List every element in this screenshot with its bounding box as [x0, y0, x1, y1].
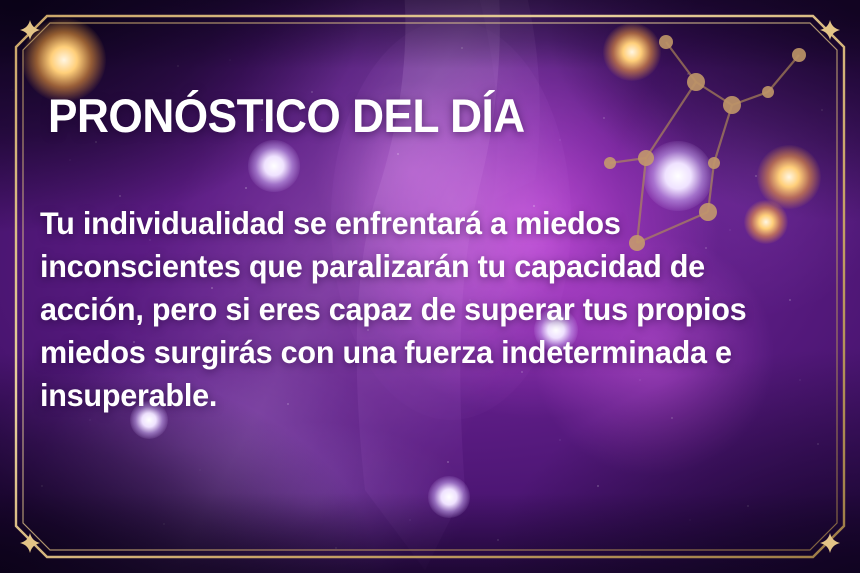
horoscope-card: PRONÓSTICO DEL DÍA Tu individualidad se …	[0, 0, 860, 573]
horoscope-body-text: Tu individualidad se enfrentará a miedos…	[40, 202, 806, 417]
card-content: PRONÓSTICO DEL DÍA Tu individualidad se …	[0, 0, 860, 573]
page-title: PRONÓSTICO DEL DÍA	[48, 92, 525, 139]
